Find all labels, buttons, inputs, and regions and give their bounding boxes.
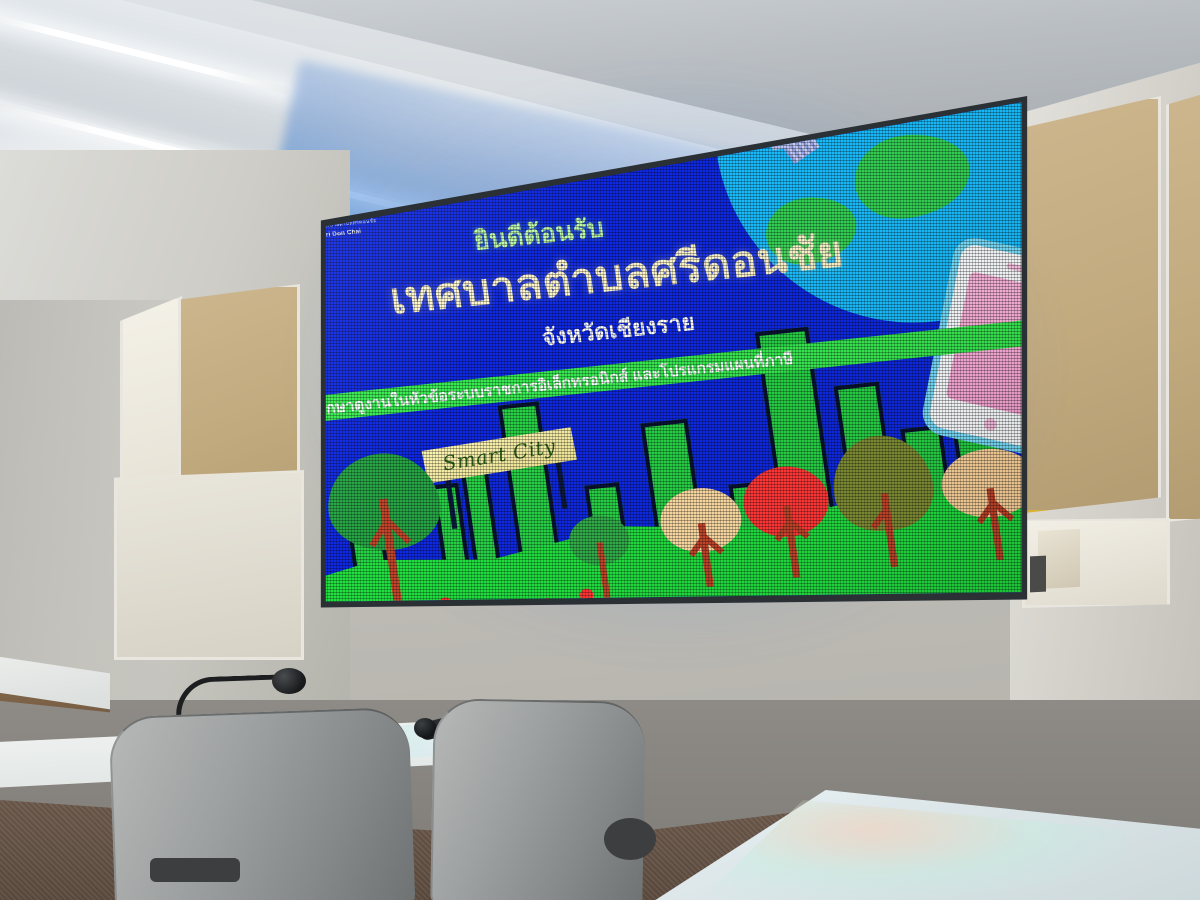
handheld-microphone-head (414, 718, 436, 738)
person-arm (501, 613, 521, 626)
person-figure (514, 611, 528, 626)
slide-artwork: Smart City (318, 96, 1030, 626)
person-arm (548, 609, 569, 621)
tree-red-1 (739, 462, 839, 582)
person-figure (545, 608, 559, 626)
tree-cream-2 (937, 444, 1030, 565)
person-arm (466, 620, 487, 626)
tree-dark-green-left (319, 448, 456, 614)
acoustic-panel-right-2 (1166, 92, 1200, 522)
tree-olive (827, 431, 945, 573)
window-object-dark (1030, 556, 1046, 593)
chair-base-left (150, 858, 240, 882)
gooseneck-microphone-head (272, 668, 306, 694)
person-figure (443, 608, 458, 626)
satellite-panel-left (732, 111, 768, 144)
person-figure (479, 615, 493, 626)
screenshot-root: Smart City (0, 0, 1200, 900)
led-video-wall[interactable]: Smart City (318, 96, 1030, 626)
tree-green-mid (566, 513, 637, 601)
wall-lower-left (114, 470, 304, 660)
acoustic-panel-right-1 (1016, 96, 1161, 514)
screen-surface[interactable]: Smart City (318, 96, 1030, 626)
person-arm (429, 613, 451, 626)
person-head (475, 604, 489, 618)
phone-home-button (983, 417, 998, 432)
person-arm (448, 613, 471, 626)
tree-cream-1 (656, 484, 750, 591)
office-chair-right[interactable] (430, 698, 646, 900)
chair-base-right (604, 818, 656, 860)
people-silhouettes (318, 96, 1012, 105)
satellite-dish (776, 98, 816, 135)
